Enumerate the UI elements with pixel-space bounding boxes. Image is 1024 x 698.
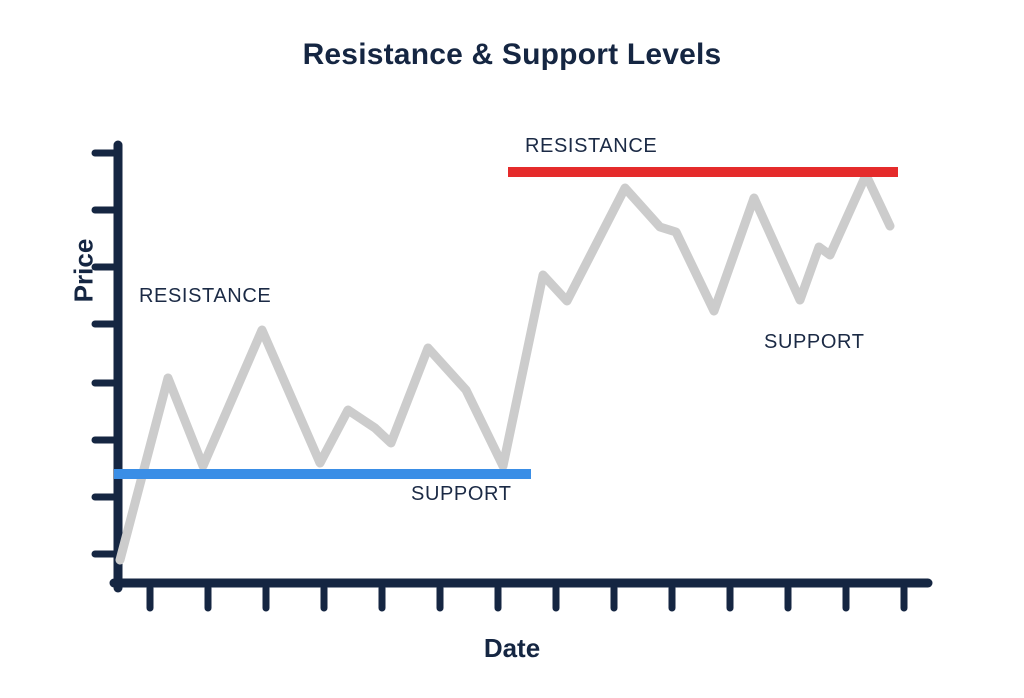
resistance-lower-label: RESISTANCE <box>139 285 271 308</box>
support-lower-label: SUPPORT <box>411 483 512 506</box>
chart-container: Resistance & Support Levels Price Date <box>0 0 1024 698</box>
x-axis-ticks <box>150 588 904 608</box>
y-axis-label: Price <box>69 211 100 331</box>
page-title: Resistance & Support Levels <box>0 38 1024 72</box>
resistance-upper-label: RESISTANCE <box>525 135 657 158</box>
x-axis-label: Date <box>0 633 1024 664</box>
support-upper-label: SUPPORT <box>764 331 865 354</box>
chart-plot-area <box>0 0 1024 698</box>
